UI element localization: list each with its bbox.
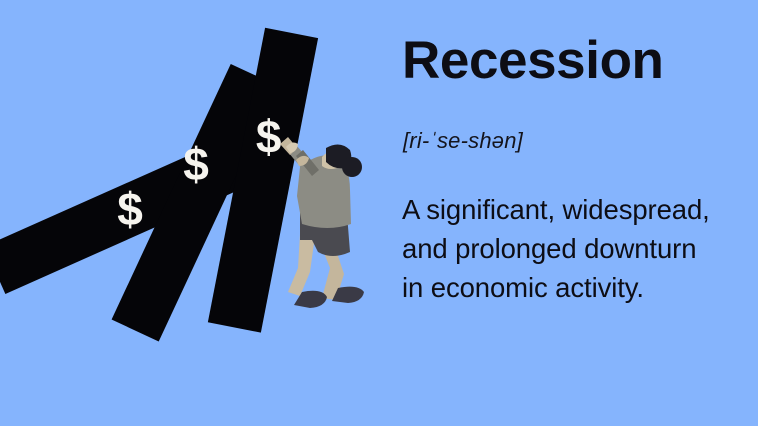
person-hair-bun xyxy=(342,157,362,177)
dollar-sign-2: $ xyxy=(183,138,209,190)
term-heading: Recession xyxy=(402,32,664,90)
recession-definition-card: $ $ $ xyxy=(0,0,758,426)
definition-text: A significant, widespread, and prolonged… xyxy=(402,190,754,307)
pronunciation-text: [ri-ˈse-shən] xyxy=(403,128,523,154)
dollar-sign-1: $ xyxy=(117,183,143,235)
definition-line-3: in economic activity. xyxy=(402,268,754,307)
definition-text-column: Recession [ri-ˈse-shən] A significant, w… xyxy=(400,0,758,426)
definition-line-2: and prolonged downturn xyxy=(402,229,754,268)
domino-illustration: $ $ $ xyxy=(0,0,400,426)
dollar-sign-3: $ xyxy=(256,111,282,163)
person-front-leg xyxy=(288,234,315,296)
definition-line-1: A significant, widespread, xyxy=(402,190,754,229)
